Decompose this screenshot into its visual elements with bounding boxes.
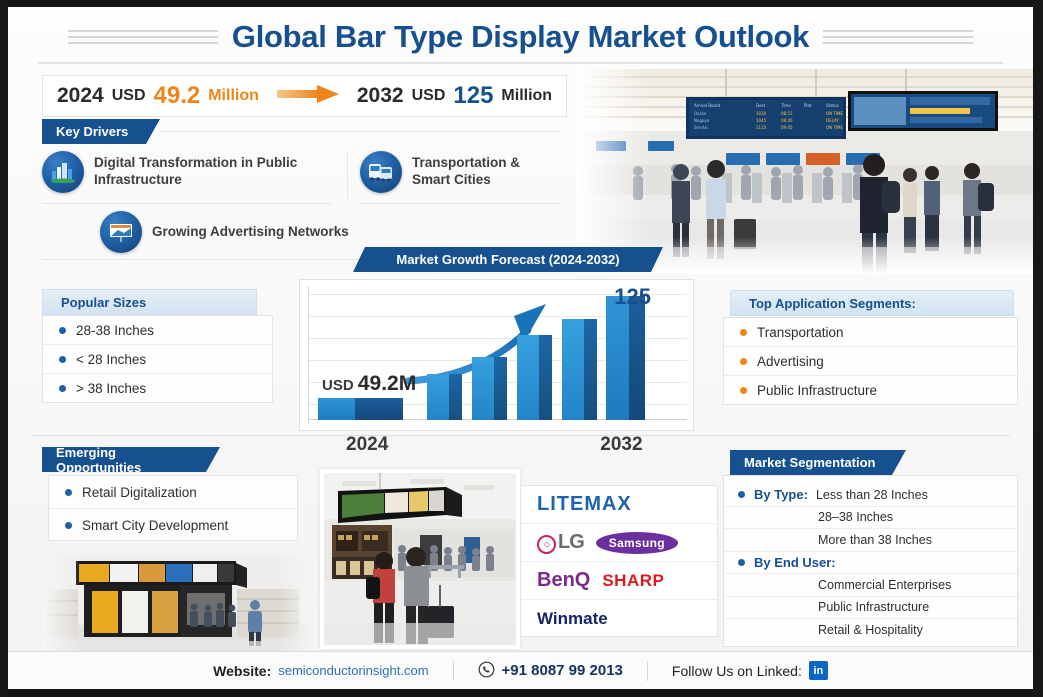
bullet-icon	[59, 327, 66, 334]
segmentation-row[interactable]: Public Infrastructure	[724, 597, 1017, 620]
frame-left	[0, 0, 8, 697]
benq-logo: BenQ	[537, 569, 590, 592]
by-type-label-group: By Type:	[724, 487, 808, 502]
key-driver-label-2: Transportation & Smart Cities	[412, 155, 560, 189]
list-item[interactable]: > 38 Inches	[43, 374, 272, 402]
key-driver-label-3: Growing Advertising Networks	[152, 224, 349, 241]
billboard-icon	[100, 211, 142, 253]
by-type-label: By Type:	[754, 487, 808, 502]
list-item[interactable]: Smart City Development	[49, 509, 297, 541]
popular-sizes-heading: Popular Sizes	[42, 289, 257, 315]
brand-row: LITEMAX	[521, 486, 717, 524]
key-drivers-zone: Digital Transformation in Public Infrast…	[42, 147, 562, 262]
list-item[interactable]: Transportation	[724, 318, 1017, 347]
application-segment-label: Public Infrastructure	[757, 383, 877, 398]
title-row: Global Bar Type Display Market Outlook	[8, 13, 1033, 61]
by-type-value: 28–38 Inches	[818, 510, 893, 524]
linkedin-icon[interactable]: in	[809, 661, 828, 680]
application-segment-label: Advertising	[757, 354, 824, 369]
to-year: 2032	[357, 84, 404, 108]
kd-rule-vertical	[347, 151, 348, 199]
brand-row: Winmate	[521, 600, 717, 638]
frame-bottom	[0, 689, 1043, 697]
phone-number: +91 8087 99 2013	[502, 662, 623, 679]
top-application-segments-heading: Top Application Segments:	[730, 290, 1014, 316]
winmate-logo: Winmate	[537, 609, 608, 629]
from-value: 49.2	[154, 82, 201, 110]
infographic-canvas: Global Bar Type Display Market Outlook	[0, 0, 1043, 697]
litemax-logo: LITEMAX	[537, 493, 632, 516]
bullet-icon	[59, 356, 66, 363]
by-end-user-label: By End User:	[754, 555, 836, 570]
sharp-logo: SHARP	[602, 571, 664, 591]
market-segmentation-heading: Market Segmentation	[730, 450, 906, 475]
key-driver-item-3[interactable]: Growing Advertising Networks	[100, 211, 400, 253]
frame-right	[1033, 0, 1043, 697]
kd-rule-2	[360, 203, 560, 204]
by-end-user-value: Commercial Enterprises	[818, 578, 951, 592]
list-item[interactable]: Public Infrastructure	[724, 376, 1017, 404]
brand-logos-panel: LITEMAX ○LG Samsung BenQ SHARP Winmate	[520, 485, 718, 637]
lg-circle-icon: ○	[537, 535, 556, 554]
segmentation-row[interactable]: Retail & Hospitality	[724, 619, 1017, 642]
chart-start-value-label: USD 49.2M	[322, 372, 416, 396]
from-year: 2024	[57, 84, 104, 108]
chart-end-value-label: 125	[614, 284, 651, 310]
brand-row: BenQ SHARP	[521, 562, 717, 600]
footer-website[interactable]: Website: semiconductorinsight.com	[189, 663, 452, 679]
bullet-icon	[740, 329, 747, 336]
list-item[interactable]: < 28 Inches	[43, 345, 272, 374]
footer-social[interactable]: Follow Us on Linked: in	[648, 661, 852, 680]
to-currency: USD	[412, 87, 446, 105]
chart-bar	[606, 296, 645, 420]
popular-sizes-panel: 28-38 Inches < 28 Inches > 38 Inches	[42, 315, 273, 403]
footer-phone[interactable]: +91 8087 99 2013	[454, 661, 647, 681]
chart-bar	[318, 398, 403, 420]
page-title: Global Bar Type Display Market Outlook	[232, 19, 809, 55]
market-growth-chart: USD 49.2M 125 2024 2032	[299, 279, 694, 431]
bullet-icon	[738, 491, 745, 498]
emerging-opportunities-heading: Emerging Opportunities	[42, 447, 220, 472]
segmentation-row[interactable]: More than 38 Inches	[724, 529, 1017, 552]
airport-concourse-photo	[320, 469, 520, 649]
application-segment-label: Transportation	[757, 325, 844, 340]
samsung-logo: Samsung	[596, 532, 678, 554]
by-end-user-value: Public Infrastructure	[818, 600, 929, 614]
top-application-segments-panel: Transportation Advertising Public Infras…	[723, 317, 1018, 405]
from-unit: Million	[208, 87, 259, 105]
kd-rule-1	[42, 203, 332, 204]
popular-size-label: > 38 Inches	[76, 381, 146, 396]
chart-bar	[562, 319, 597, 420]
key-driver-label-1: Digital Transformation in Public Infrast…	[94, 155, 332, 189]
bullet-icon	[740, 358, 747, 365]
from-currency: USD	[112, 87, 146, 105]
emerging-opportunities-panel: Retail Digitalization Smart City Develop…	[48, 475, 298, 541]
chart-x-tick-labels: 2024 2032	[300, 434, 695, 456]
bullet-icon	[738, 559, 745, 566]
chart-bar	[517, 335, 552, 420]
bullet-icon	[65, 522, 72, 529]
chart-bar	[427, 374, 462, 420]
infographic-sheet: Global Bar Type Display Market Outlook	[8, 7, 1033, 689]
chart-x-tick: 2032	[600, 434, 642, 456]
to-unit: Million	[501, 87, 552, 105]
market-segmentation-panel: By Type: Less than 28 Inches 28–38 Inche…	[723, 475, 1018, 647]
website-label: Website:	[213, 663, 271, 679]
segmentation-row[interactable]: By Type: Less than 28 Inches	[724, 484, 1017, 507]
station-photo: Arrival Board DestTime PlatStatus 103008…	[576, 69, 1036, 274]
to-value: 125	[453, 82, 493, 110]
opportunity-label: Retail Digitalization	[82, 485, 197, 500]
segmentation-row[interactable]: By End User:	[724, 552, 1017, 575]
bus-icon	[360, 151, 402, 193]
key-driver-item-1[interactable]: Digital Transformation in Public Infrast…	[42, 151, 332, 193]
key-drivers-heading: Key Drivers	[42, 119, 160, 144]
title-rule-left	[68, 30, 218, 44]
website-link[interactable]: semiconductorinsight.com	[278, 663, 428, 678]
chart-x-tick: 2024	[346, 434, 388, 456]
follow-label: Follow Us on Linked:	[672, 663, 802, 679]
segmentation-row[interactable]: 28–38 Inches	[724, 507, 1017, 530]
by-end-user-value: Retail & Hospitality	[818, 623, 923, 637]
by-end-user-label-group: By End User:	[724, 555, 836, 570]
footer: Website: semiconductorinsight.com +91 80…	[8, 651, 1033, 689]
chart-bar	[472, 357, 507, 420]
retail-display-photo	[42, 555, 317, 655]
by-type-value: Less than 28 Inches	[816, 488, 928, 502]
lg-logo: ○LG	[537, 531, 584, 555]
title-rule-right	[823, 30, 973, 44]
opportunity-label: Smart City Development	[82, 518, 228, 533]
key-driver-item-2[interactable]: Transportation & Smart Cities	[360, 151, 560, 193]
by-type-value: More than 38 Inches	[818, 533, 932, 547]
key-drivers-top-rule	[160, 131, 560, 132]
chart-plot-area: USD 49.2M 125	[300, 280, 695, 432]
bullet-icon	[740, 387, 747, 394]
chart-title-ribbon: Market Growth Forecast (2024-2032)	[353, 247, 663, 272]
bullet-icon	[65, 489, 72, 496]
brand-row: ○LG Samsung	[521, 524, 717, 562]
frame-top	[0, 0, 1043, 7]
bullet-icon	[59, 385, 66, 392]
popular-size-label: 28-38 Inches	[76, 323, 154, 338]
segmentation-row[interactable]: Commercial Enterprises	[724, 574, 1017, 597]
right-arrow-icon	[277, 85, 339, 108]
list-item[interactable]: Advertising	[724, 347, 1017, 376]
list-item[interactable]: 28-38 Inches	[43, 316, 272, 345]
popular-size-label: < 28 Inches	[76, 352, 146, 367]
title-divider	[38, 62, 1003, 64]
market-value-bar: 2024 USD 49.2 Million 2032 USD 125 Milli…	[42, 75, 567, 117]
list-item[interactable]: Retail Digitalization	[49, 476, 297, 509]
whatsapp-icon	[478, 661, 495, 681]
city-skyline-icon	[42, 151, 84, 193]
